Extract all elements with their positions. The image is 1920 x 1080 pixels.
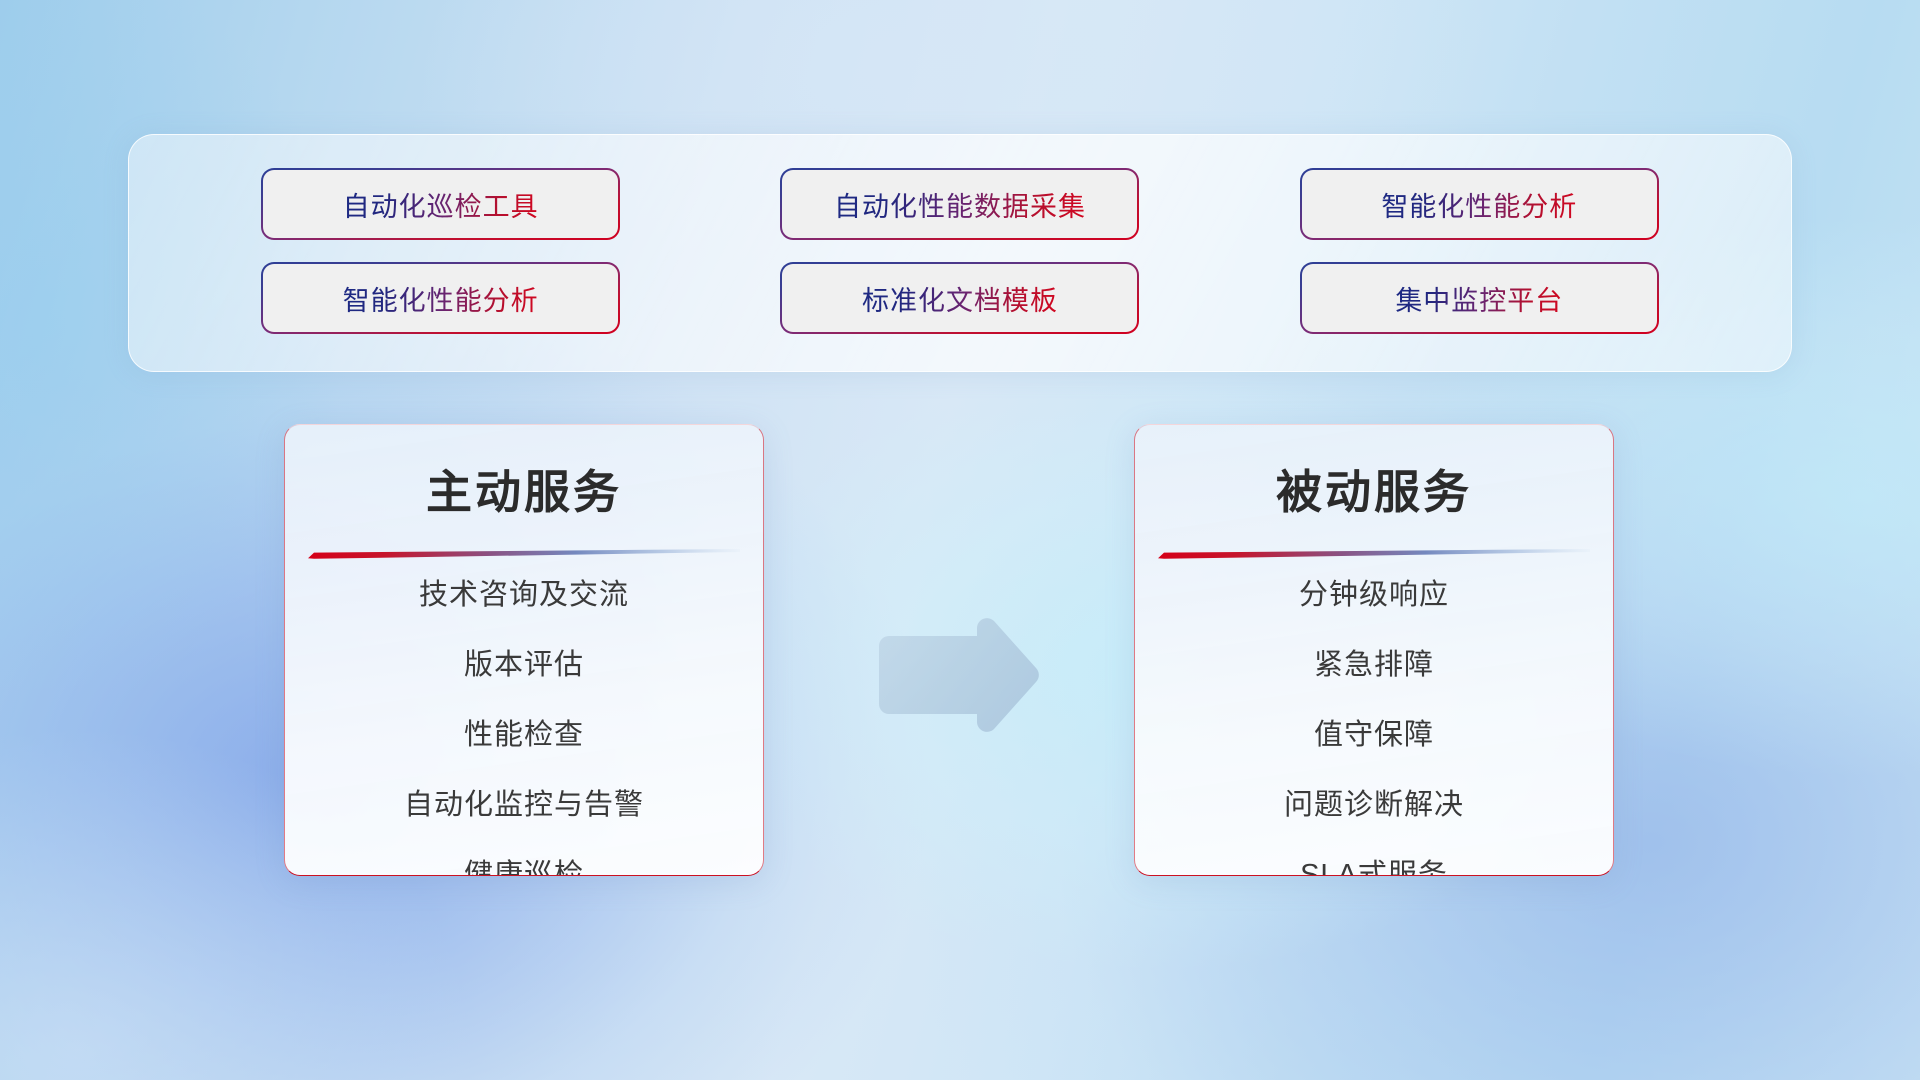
capability-pill-3[interactable]: 智能化性能分析 bbox=[1302, 170, 1657, 238]
slide-canvas: 自动化巡检工具 自动化性能数据采集 智能化性能分析 智能化性能分析 标准化文档模… bbox=[0, 0, 1920, 1080]
capability-pill-4[interactable]: 智能化性能分析 bbox=[263, 264, 618, 332]
proactive-service-list: 技术咨询及交流 版本评估 性能检查 自动化监控与告警 健康巡检 bbox=[285, 581, 763, 876]
reactive-service-card[interactable]: 被动服务 分钟级响应 紧急排障 值守保障 bbox=[1134, 424, 1614, 876]
capability-pill-label: 智能化性能分析 bbox=[1381, 185, 1577, 224]
capability-pill-label: 自动化性能数据采集 bbox=[834, 185, 1086, 224]
list-item: 自动化监控与告警 bbox=[285, 791, 763, 820]
capability-pill-1[interactable]: 自动化巡检工具 bbox=[263, 170, 618, 238]
capability-pill-label: 智能化性能分析 bbox=[343, 279, 539, 318]
capability-pill-label: 集中监控平台 bbox=[1395, 279, 1563, 318]
reactive-service-list: 分钟级响应 紧急排障 值守保障 问题诊断解决 SLA式服务 bbox=[1135, 581, 1613, 876]
list-item: 技术咨询及交流 bbox=[285, 581, 763, 610]
list-item: 紧急排障 bbox=[1135, 651, 1613, 680]
capability-pill-label: 自动化巡检工具 bbox=[343, 185, 539, 224]
capability-pill-5[interactable]: 标准化文档模板 bbox=[782, 264, 1137, 332]
capability-panel: 自动化巡检工具 自动化性能数据采集 智能化性能分析 智能化性能分析 标准化文档模… bbox=[128, 134, 1792, 372]
reactive-card-divider bbox=[1158, 548, 1590, 559]
capability-pill-label: 标准化文档模板 bbox=[862, 279, 1058, 318]
capability-pill-6[interactable]: 集中监控平台 bbox=[1302, 264, 1657, 332]
proactive-service-card[interactable]: 主动服务 技术咨询及交流 版本评估 性能检查 bbox=[284, 424, 764, 876]
list-item: 版本评估 bbox=[285, 651, 763, 680]
list-item: 健康巡检 bbox=[285, 861, 763, 876]
list-item: 值守保障 bbox=[1135, 721, 1613, 750]
list-item: 问题诊断解决 bbox=[1135, 791, 1613, 820]
list-item: 性能检查 bbox=[285, 721, 763, 750]
capability-pill-2[interactable]: 自动化性能数据采集 bbox=[782, 170, 1137, 238]
reactive-card-title: 被动服务 bbox=[1135, 456, 1613, 522]
proactive-card-title: 主动服务 bbox=[285, 456, 763, 522]
proactive-card-divider bbox=[308, 548, 740, 559]
flow-arrow-right-icon bbox=[873, 614, 1043, 736]
list-item: 分钟级响应 bbox=[1135, 581, 1613, 610]
list-item: SLA式服务 bbox=[1135, 861, 1613, 876]
